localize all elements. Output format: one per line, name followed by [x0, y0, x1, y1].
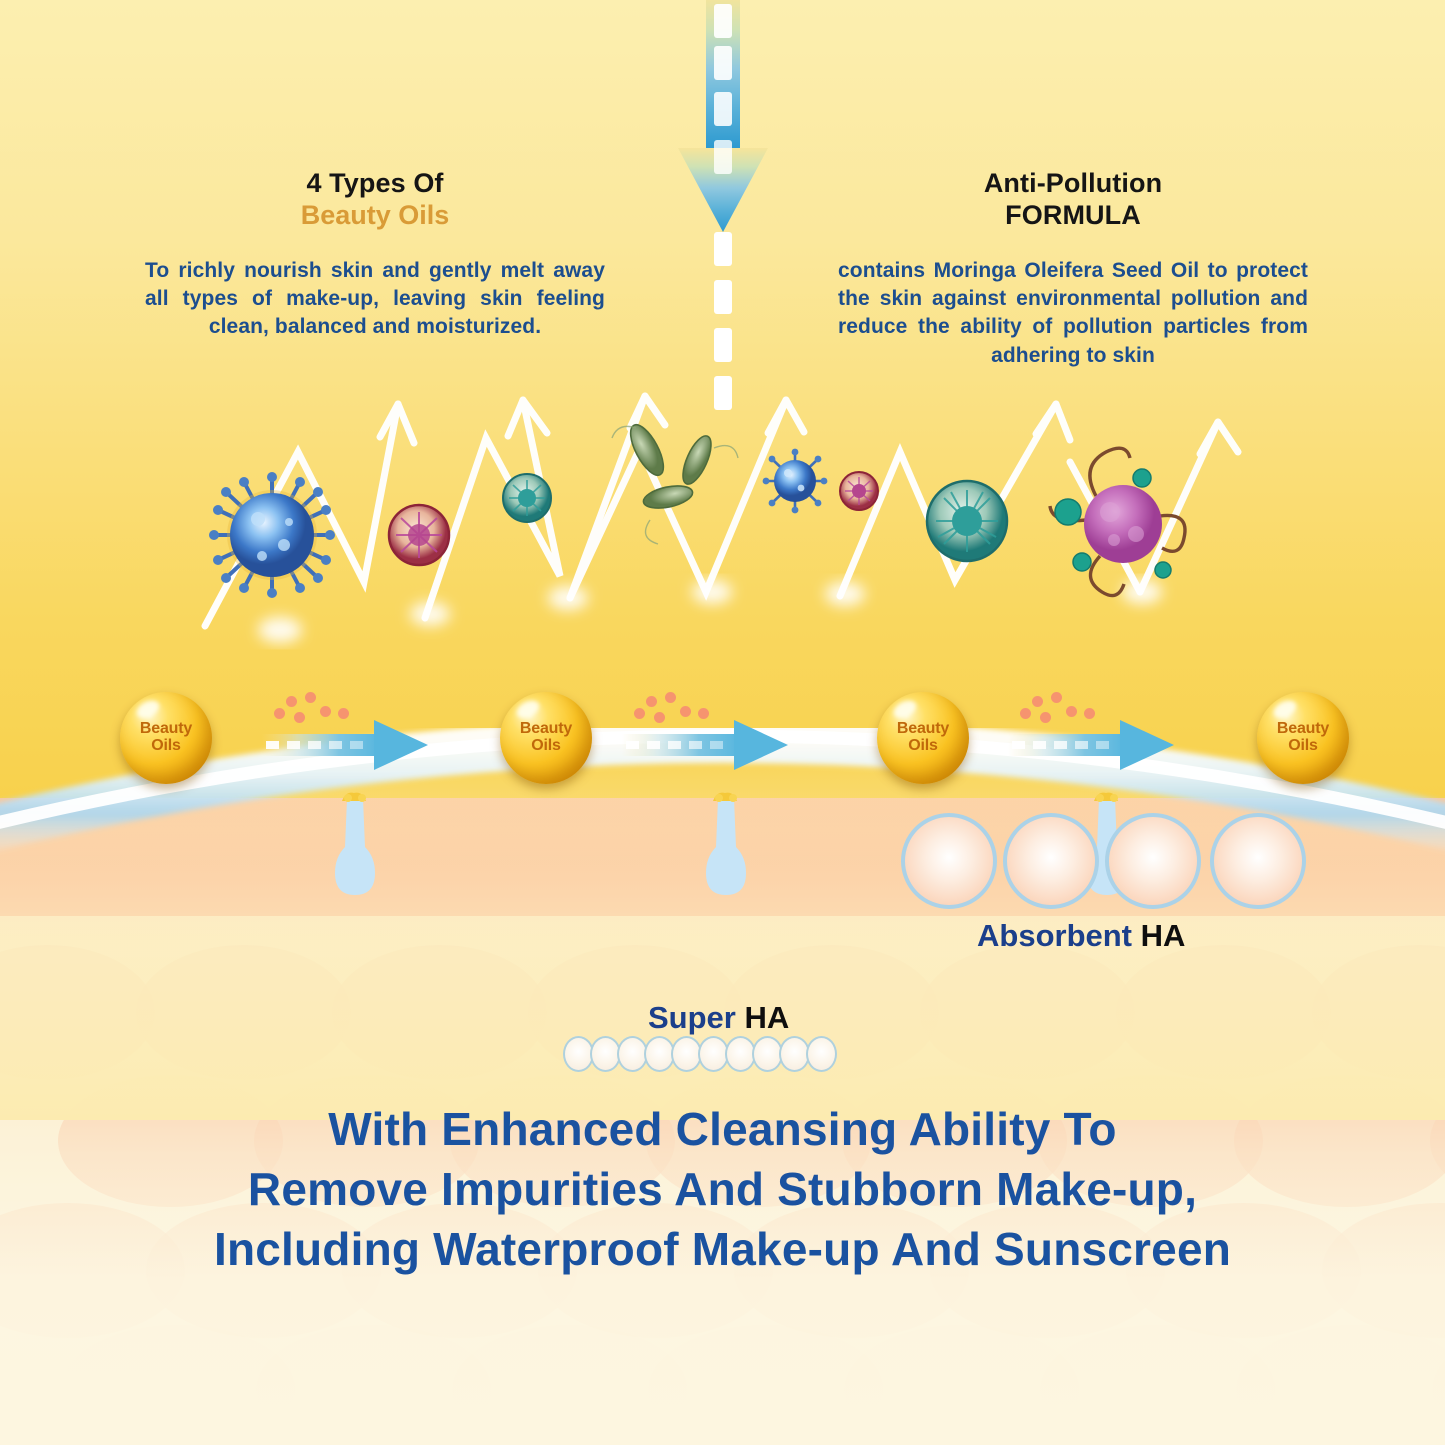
microbe-amoeba-purple [1050, 448, 1185, 595]
infographic-canvas: 4 Types Of Beauty Oils To richly nourish… [0, 0, 1445, 1445]
right-heading-line1: Anti-Pollution [838, 168, 1308, 200]
impurity-dot [320, 706, 331, 717]
right-heading-line2: FORMULA [838, 200, 1308, 232]
dermis-cell [1312, 945, 1445, 1080]
beauty-oil-label: BeautyOils [520, 721, 572, 755]
left-heading-line1: 4 Types Of [145, 168, 605, 200]
impurity-dot [1051, 692, 1062, 703]
absorbent-ha-label: Absorbent HA [977, 918, 1185, 954]
impurity-particles [270, 690, 370, 730]
absorbent-ha-bubble [1210, 813, 1306, 909]
beauty-oil-label: BeautyOils [140, 721, 192, 755]
super-ha-label-blue: Super [648, 1000, 736, 1035]
absorbent-ha-label-blue: Absorbent [977, 918, 1132, 953]
absorbent-ha-bubble [1105, 813, 1201, 909]
microbe-bacteria-green [612, 420, 738, 544]
impurity-dot [654, 712, 665, 723]
impurity-dot [1032, 696, 1043, 707]
beauty-oil-sphere: BeautyOils [877, 692, 969, 784]
impurity-dot [698, 708, 709, 719]
impurity-dot [680, 706, 691, 717]
impurity-dot [338, 708, 349, 719]
dermis-cell [332, 945, 547, 1080]
microbe-cell-magenta [389, 505, 449, 565]
right-panel: Anti-Pollution FORMULA contains Moringa … [838, 168, 1308, 370]
beauty-oil-label: BeautyOils [897, 721, 949, 755]
impurity-dot [634, 708, 645, 719]
absorbent-ha-bubble [901, 813, 997, 909]
impurity-dot [294, 712, 305, 723]
left-panel: 4 Types Of Beauty Oils To richly nourish… [145, 168, 605, 342]
impurity-dot [305, 692, 316, 703]
microbe-virus-blue-large [209, 472, 335, 598]
skin-pore [328, 789, 382, 907]
super-ha-label-black: HA [744, 1000, 789, 1035]
dermis-cell [1116, 945, 1331, 1080]
impurity-dot [286, 696, 297, 707]
beauty-oil-label: BeautyOils [1277, 721, 1329, 755]
absorbent-ha-bubble [1003, 813, 1099, 909]
dermis-cell [136, 945, 351, 1080]
impurity-dot [1040, 712, 1051, 723]
absorbent-ha-label-black: HA [1141, 918, 1186, 953]
impurity-dot [1066, 706, 1077, 717]
super-ha-bead [806, 1036, 837, 1072]
super-ha-label: Super HA [648, 1000, 789, 1036]
beauty-oil-sphere: BeautyOils [120, 692, 212, 784]
microbe-cell-teal-small [503, 474, 551, 522]
right-body-copy: contains Moringa Oleifera Seed Oil to pr… [838, 257, 1308, 370]
beauty-oil-sphere: BeautyOils [1257, 692, 1349, 784]
footer-headline: With Enhanced Cleansing Ability To Remov… [0, 1100, 1445, 1279]
microbe-virus-blue-small [763, 449, 828, 514]
dermis-cell [920, 945, 1135, 1080]
impurity-dot [646, 696, 657, 707]
impurity-dot [1084, 708, 1095, 719]
impurity-particles [1016, 690, 1116, 730]
footer-line-3: Including Waterproof Make-up And Sunscre… [0, 1220, 1445, 1280]
impurity-particles [630, 690, 730, 730]
footer-line-1: With Enhanced Cleansing Ability To [0, 1100, 1445, 1160]
left-heading-line2: Beauty Oils [145, 200, 605, 232]
dermis-cell [1236, 1325, 1445, 1445]
microbe-cell-red-small [840, 472, 878, 510]
beauty-oil-sphere: BeautyOils [500, 692, 592, 784]
impurity-dot [274, 708, 285, 719]
microbe-cell-teal-large [927, 481, 1007, 561]
impurity-dot [1020, 708, 1031, 719]
footer-line-2: Remove Impurities And Stubborn Make-up, [0, 1160, 1445, 1220]
impurity-dot [665, 692, 676, 703]
super-ha-chain [563, 1036, 833, 1072]
skin-pore [699, 789, 753, 907]
dermis-cell [0, 945, 155, 1080]
left-body-copy: To richly nourish skin and gently melt a… [145, 257, 605, 342]
